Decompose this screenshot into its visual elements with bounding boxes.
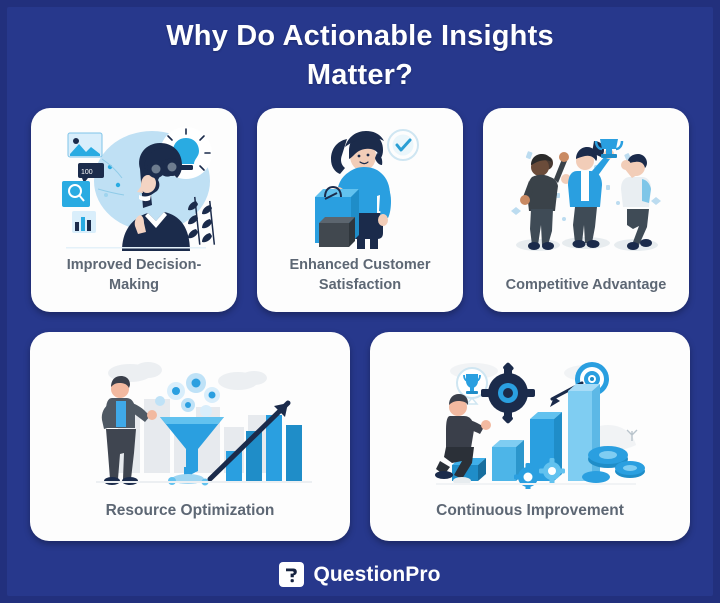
card-label: Improved Decision- Making [45,256,224,304]
illustration-thinking-man-gears-lightbulb-icon: 100 [39,118,229,256]
card-label-line-1: Resource Optimization [106,502,275,519]
card-enhanced-customer-satisfaction[interactable]: Enhanced Customer Satisfaction [257,108,463,312]
title-line-1: Why Do Actionable Insights [166,20,554,52]
card-label-line-1: Competitive [506,277,589,293]
card-continuous-improvement[interactable]: Continuous Improvement [370,332,690,541]
questionpro-logo-icon [279,562,304,587]
card-label: Competitive Advantage [497,276,676,305]
title-line-2: Matter? [30,56,690,95]
illustration-man-funnel-data-bar-chart-icon [40,342,340,501]
card-resource-optimization[interactable]: Resource Optimization [30,332,350,541]
card-label-line-2: Making [109,277,159,293]
card-label: Resource Optimization [49,501,331,533]
illustration-three-people-celebrating-trophy-icon [491,118,681,275]
card-competitive-advantage[interactable]: Competitive Advantage [483,108,689,312]
brand-name: QuestionPro [313,563,440,587]
page-title: Why Do Actionable Insights Matter? [30,0,690,94]
svg-text:100: 100 [81,169,93,176]
card-row-bottom: Resource Optimization [30,332,690,541]
card-label-line-2: Advantage [592,277,666,293]
illustration-man-climbing-growth-bars-target-gear-icon [380,342,680,501]
card-improved-decision-making[interactable]: 100 [31,108,237,312]
infographic-poster: Why Do Actionable Insights Matter? 100 [0,0,720,603]
card-label-line-1: Enhanced Customer [290,257,431,273]
card-label: Enhanced Customer Satisfaction [271,256,450,304]
card-label-line-2: Satisfaction [319,277,401,293]
card-row-top: 100 [30,108,690,312]
card-label-line-1: Improved Decision- [67,257,202,273]
footer-brand: QuestionPro [0,562,720,587]
illustration-woman-shopping-bags-check-badge-icon [265,118,455,256]
card-label-line-1: Continuous Improvement [436,502,624,519]
card-label: Continuous Improvement [389,501,671,533]
